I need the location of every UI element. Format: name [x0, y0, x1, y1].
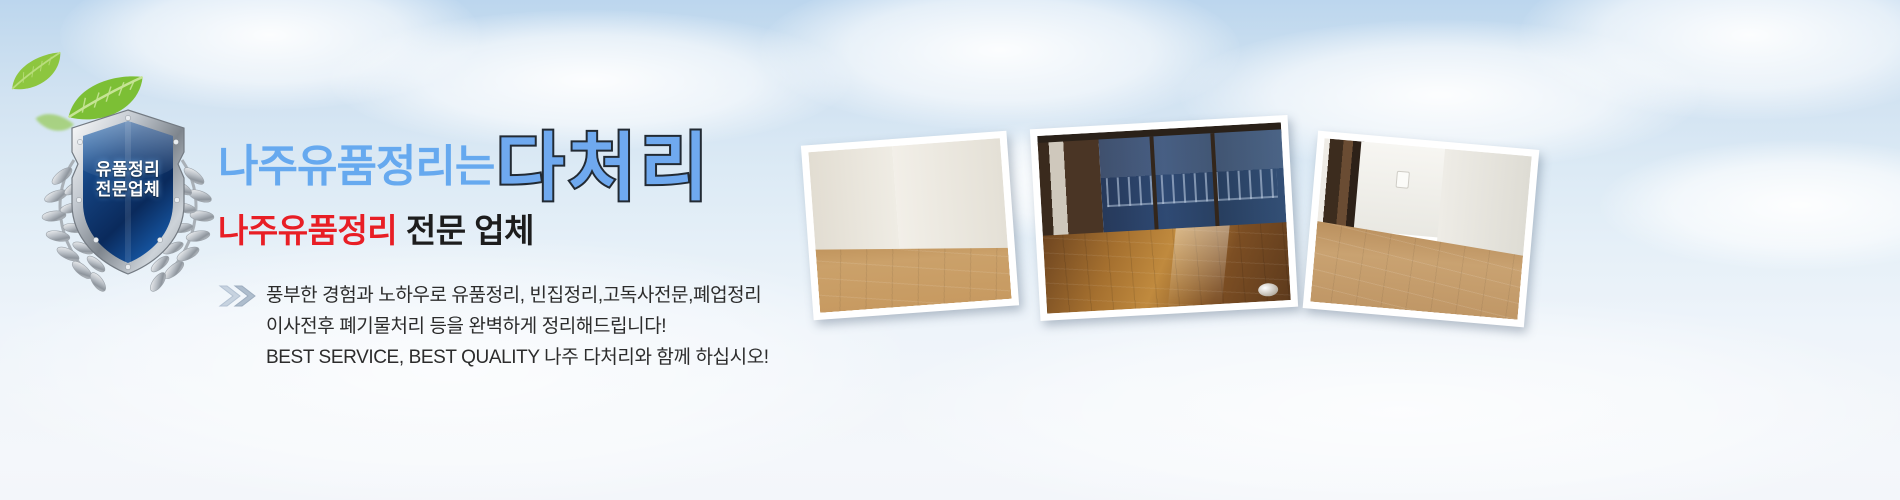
- subline-highlight: 나주유품정리: [218, 212, 397, 249]
- photo1-wall-right: [893, 138, 1009, 265]
- haze-decor: [900, 300, 1900, 500]
- cloud-decor: [1520, 0, 1900, 120]
- headline-lead: 나주유품정리는: [218, 130, 494, 194]
- emblem-line-1: 유품정리: [66, 160, 190, 180]
- cloud-decor: [60, 0, 480, 110]
- emblem-text: 유품정리 전문업체: [66, 160, 190, 200]
- certification-emblem: 유품정리 전문업체: [38, 108, 218, 298]
- photo3-wall-back: [1354, 142, 1449, 238]
- photo2-floor-reflection: [1168, 225, 1230, 307]
- promo-banner: 유품정리 전문업체 나주유품정리는 다처리 나주유품정리 전문 업체 풍부한 경…: [0, 0, 1900, 500]
- photo-room-with-balcony-window-dark-floor: [1030, 115, 1298, 321]
- photo2-floor: [1043, 222, 1291, 314]
- shield-badge: 유품정리 전문업체: [66, 108, 190, 276]
- double-chevron-icon: [218, 284, 258, 308]
- photo-empty-room-white-walls-doorway: [1303, 131, 1540, 328]
- bullet-line-3: BEST SERVICE, BEST QUALITY 나주 다처리와 함께 하십…: [266, 342, 918, 373]
- subline-rest: 전문 업체: [397, 212, 534, 249]
- photo1-wall-left: [808, 146, 900, 255]
- leaf-decor: [1, 43, 73, 102]
- emblem-line-2: 전문업체: [66, 180, 190, 200]
- cloud-decor: [1600, 140, 1900, 270]
- cloud-decor: [760, 0, 1240, 130]
- photo2-doorwall: [1038, 140, 1105, 246]
- photo-empty-room-light-oak-floor: [801, 131, 1019, 321]
- photo3-wall-outlet: [1395, 171, 1409, 189]
- brand-name: 다처리: [496, 108, 712, 215]
